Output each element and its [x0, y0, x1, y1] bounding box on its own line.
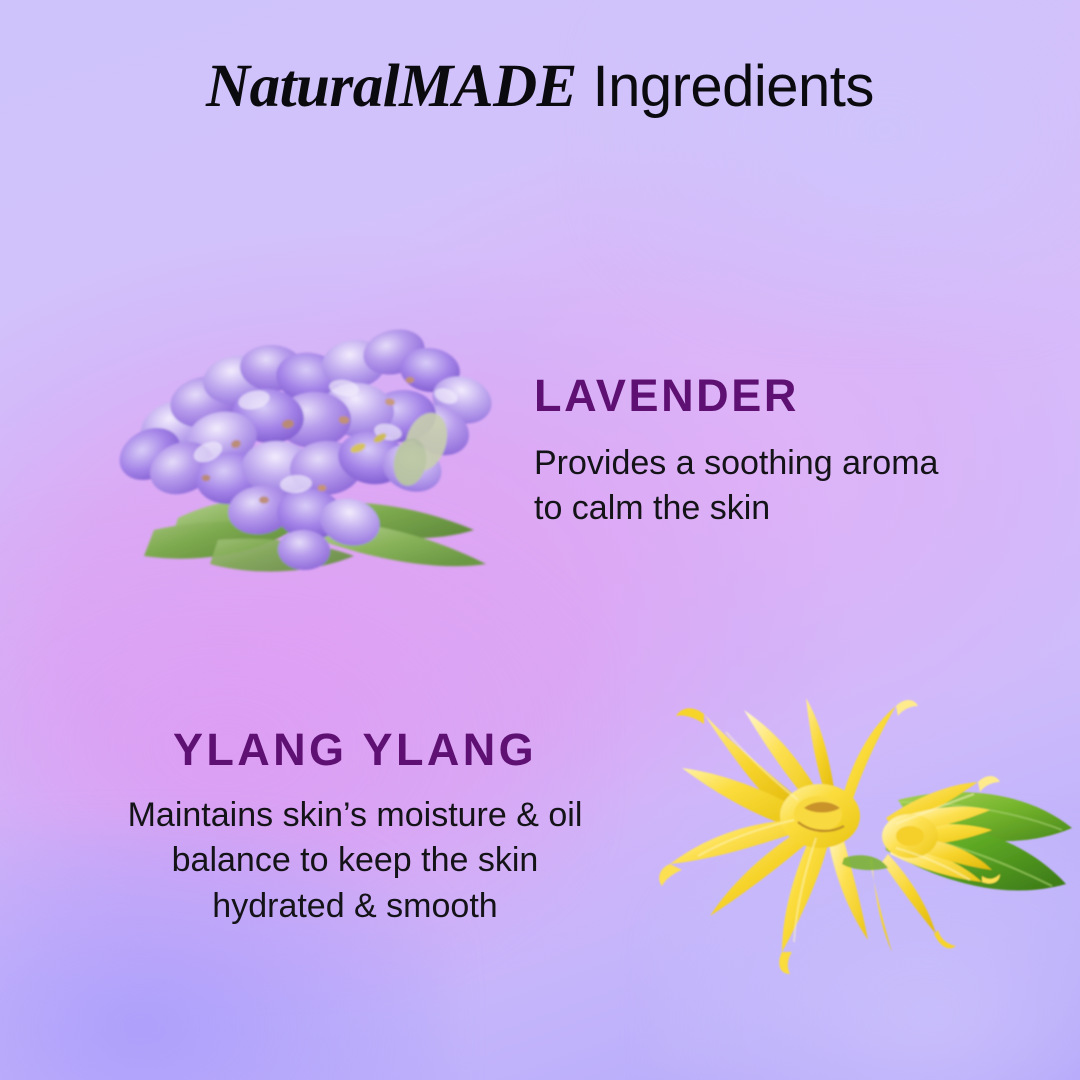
- ylang-ylang-flower-image: [648, 688, 1078, 980]
- lavender-heading: LAVENDER: [534, 372, 938, 419]
- ylang-ylang-heading: YLANG YLANG: [105, 726, 605, 773]
- ylang-ylang-description-line: balance to keep the skin: [105, 838, 605, 883]
- lavender-description-line: to calm the skin: [534, 486, 938, 531]
- page-title-brand: NaturalMADE: [206, 53, 577, 120]
- lavender-text-block: LAVENDER Provides a soothing aroma to ca…: [534, 372, 938, 532]
- lavender-description: Provides a soothing aroma to calm the sk…: [534, 441, 938, 531]
- background-glow-top-right: [583, 0, 1080, 346]
- ylang-ylang-description-line: hydrated & smooth: [105, 884, 605, 929]
- ylang-ylang-text-block: YLANG YLANG Maintains skin’s moisture & …: [105, 726, 605, 929]
- ingredients-infographic: NaturalMADE Ingredients: [0, 0, 1080, 1080]
- page-title-suffix: [577, 54, 593, 119]
- lavender-flower-image: [58, 292, 528, 592]
- ylang-ylang-description-line: Maintains skin’s moisture & oil: [105, 793, 605, 838]
- page-title: NaturalMADE Ingredients: [0, 56, 1080, 117]
- lavender-description-line: Provides a soothing aroma: [534, 441, 938, 486]
- ylang-ylang-description: Maintains skin’s moisture & oil balance …: [105, 793, 605, 929]
- page-title-word: Ingredients: [592, 54, 873, 119]
